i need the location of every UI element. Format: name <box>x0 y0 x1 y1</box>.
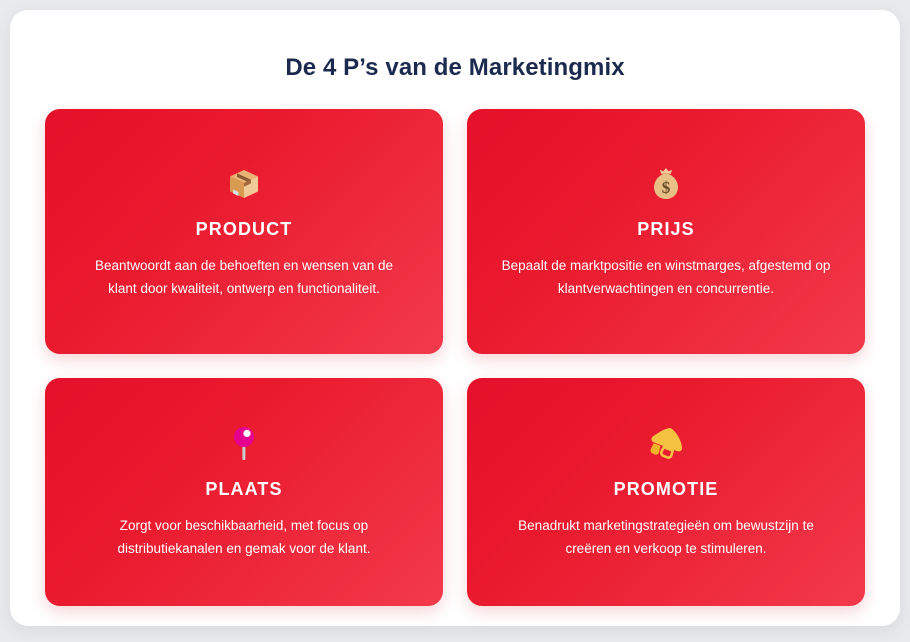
card-plaats[interactable]: PLAATS Zorgt voor beschikbaarheid, met f… <box>45 378 443 606</box>
megaphone-icon <box>646 423 686 465</box>
package-icon <box>226 163 262 205</box>
card-promotie[interactable]: PROMOTIE Benadrukt marketingstrategieën … <box>467 378 865 606</box>
money-bag-icon: $ <box>649 163 683 205</box>
card-description: Bepaalt de marktpositie en winstmarges, … <box>501 254 831 300</box>
card-product[interactable]: PRODUCT Beantwoordt aan de behoeften en … <box>45 109 443 354</box>
svg-text:$: $ <box>662 178 671 197</box>
card-description: Beantwoordt aan de behoeften en wensen v… <box>79 254 409 300</box>
map-pin-icon <box>231 423 257 465</box>
card-title: PRODUCT <box>196 219 293 240</box>
marketing-mix-panel: De 4 P’s van de Marketingmix PRODUCT Bea… <box>10 10 900 626</box>
card-title: PRIJS <box>637 219 695 240</box>
card-prijs[interactable]: $ PRIJS Bepaalt de marktpositie en winst… <box>467 109 865 354</box>
four-ps-card-grid: PRODUCT Beantwoordt aan de behoeften en … <box>10 83 900 606</box>
card-title: PLAATS <box>205 479 282 500</box>
card-description: Benadrukt marketingstrategieën om bewust… <box>501 514 831 560</box>
card-title: PROMOTIE <box>614 479 719 500</box>
card-description: Zorgt voor beschikbaarheid, met focus op… <box>79 514 409 560</box>
page-title: De 4 P’s van de Marketingmix <box>10 10 900 83</box>
